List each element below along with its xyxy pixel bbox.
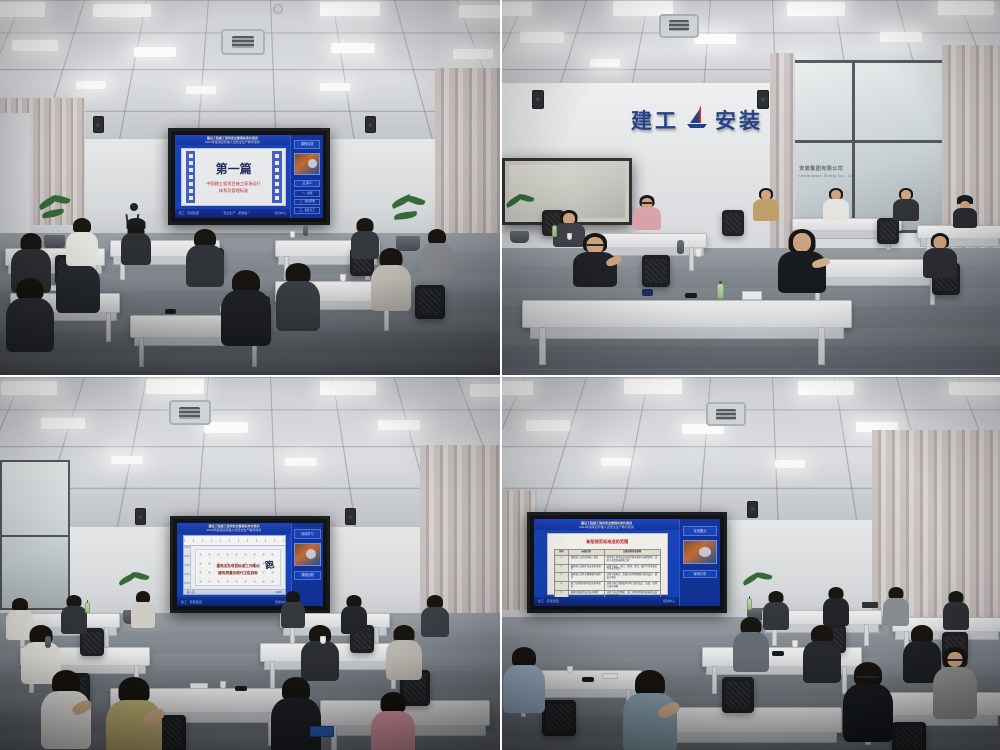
attendee (882, 587, 910, 625)
slide-sidebar: 标准要点 案例分析 (679, 519, 720, 606)
office-chair (542, 700, 576, 736)
window-decal-cn: 安装集团有限公司 (799, 166, 843, 172)
document-heading: 建筑法及项目标准工作推动 建筑质量及现代工程目标 (203, 563, 274, 576)
paper-cup (220, 681, 226, 689)
slide-header-line2: 2024年度项目管理人员安全生产教育培训 (207, 528, 262, 532)
table-cell: 适用于临边、洞口、攀登、悬空、操作平台等高处作业安全防护 (604, 564, 660, 573)
led-panel-light (470, 384, 500, 397)
smartphone (772, 651, 784, 656)
notebook (190, 683, 208, 689)
slide-footer-right: 培训中心 (274, 211, 286, 215)
sidebar-card-top: 标准要点 (683, 526, 717, 536)
table-cell: 适用于施工现场临时用电工程的设计、安装、使用与维护管理 (604, 581, 660, 590)
attendee (942, 591, 970, 629)
attendee (120, 218, 152, 262)
document-page: 建筑法及项目标准工作推动 建筑质量及现代工程目标 跑 (195, 549, 281, 586)
attendee (65, 218, 99, 264)
sidebar-card-bottom: 案例分析 (683, 570, 717, 579)
table-cell: 4 (555, 581, 569, 590)
led-panel-light (331, 43, 375, 53)
office-chair (722, 677, 754, 713)
wall-speaker-icon (93, 116, 104, 133)
training-room-scene: 建设工程施工现场安全管理标准化培训 2024年度项目管理人员安全生产教育培训 (0, 377, 500, 750)
office-chair (892, 722, 926, 750)
attendee (892, 188, 920, 220)
slide-main-area: 建设工程施工现场安全管理标准化培训 2024年度项目管理人员安全生产教育培训 第… (175, 135, 291, 219)
slide-header: 建设工程施工现场安全管理标准化培训 2024年度项目管理人员安全生产教育培训 (175, 135, 291, 146)
led-panel-light (76, 81, 106, 89)
smartphone (235, 686, 247, 691)
sidebar-card-top: 持续学习 (294, 529, 320, 538)
led-panel-light (93, 4, 151, 17)
attendee (420, 229, 454, 275)
led-panel-light (41, 418, 85, 429)
slide-screen: 建设工程施工现场安全管理标准化培训 2024年度项目管理人员安全生产教育培训 新… (534, 519, 720, 606)
slide-chapter-title: 第一篇 (216, 160, 252, 177)
document-page-indicator: 第 1 页 (187, 590, 195, 594)
document-heading-line2: 建筑质量及现代工程目标 (203, 570, 274, 576)
table-cell: 施工现场临时用电安全技术规范 (568, 581, 604, 590)
water-bottle (85, 602, 90, 613)
slide-main-area: 建设工程施工现场安全管理标准化培训 2024年度项目管理人员安全生产教育培训 新… (534, 519, 679, 606)
slide-footer-right: 培训中心 (663, 599, 675, 603)
attendee (220, 270, 272, 344)
attendee (105, 677, 163, 750)
led-panel-light (502, 381, 533, 395)
smartphone (685, 293, 697, 298)
table-cell: 建筑施工扣件式钢管脚手架规范 (568, 573, 604, 582)
slide-header: 建设工程施工现场安全管理标准化培训 2024年度项目管理人员安全生产教育培训 (534, 519, 679, 530)
led-panel-light (624, 379, 682, 394)
notebook (742, 291, 762, 300)
wall-speaker-icon (757, 90, 769, 109)
cassette-air-conditioner (221, 29, 265, 55)
attendee (822, 188, 850, 220)
attendee (922, 233, 958, 277)
slide-footer-left: 建工 · 安装集团 (179, 211, 200, 215)
sail-boat-icon (684, 104, 710, 137)
attendee (502, 647, 546, 711)
window-decal: 安装集团有限公司 Installation Group Co., Ltd. (799, 166, 856, 179)
left-wall (0, 113, 30, 241)
table-cell: 建筑施工高处作业安全技术规范 (568, 564, 604, 573)
smartphone (582, 677, 594, 682)
training-room-scene: 建工 安装 安装 (502, 0, 1000, 375)
sidebar-photo (294, 543, 320, 566)
paper-cup (567, 666, 573, 674)
sidebar-photo (683, 540, 717, 564)
attendee (280, 591, 306, 627)
table-cell: 建筑施工安全技术统一规范 (568, 555, 604, 564)
led-panel-light (111, 456, 143, 464)
led-panel-light (502, 2, 532, 16)
led-panel-light (590, 59, 620, 67)
interior-glass-window: 安装集团有限公司 Installation Group Co., Ltd. (787, 60, 947, 233)
attendee (802, 625, 842, 679)
slide-footer-left: 建工 · 安装集团 (538, 599, 559, 603)
led-panel-light (12, 40, 58, 51)
paper-cup (290, 231, 295, 238)
attendee (932, 647, 978, 715)
led-panel-light (320, 2, 380, 16)
table-cell: 规定施工现场安全技术的基本要求与通用原则，适用于各类房屋建筑工程 (604, 555, 660, 564)
led-panel-light (320, 83, 350, 91)
training-desk (522, 300, 852, 328)
led-panel-light (285, 458, 317, 466)
collage-panel-top-right: 建工 安装 安装 (502, 0, 1000, 375)
potted-plant-icon (505, 195, 535, 243)
slide-header-line2: 2024年度项目管理人员安全生产教育培训 (205, 140, 260, 144)
collage-panel-top-left: 建设工程施工现场安全管理标准化培训 2024年度项目管理人员安全生产教育培训 第… (0, 0, 500, 375)
attendee (822, 587, 850, 625)
attendee (572, 233, 618, 285)
document-window: 建筑法及项目标准工作推动 建筑质量及现代工程目标 跑 第 1 页 100% (183, 535, 287, 595)
slide-main-area: 建设工程施工现场安全管理标准化培训 2024年度项目管理人员安全生产教育培训 (177, 523, 291, 607)
led-panel-light (459, 5, 500, 18)
window-curtain (435, 68, 500, 241)
led-panel-light (601, 458, 631, 466)
wall-speaker-icon (365, 116, 376, 133)
water-bottle (552, 225, 557, 237)
attendee (752, 188, 780, 220)
attendee (300, 625, 340, 679)
slide-footer-mid: 安全生产 · 质量第一 (223, 211, 250, 215)
paper-cup (567, 233, 572, 240)
attendee (350, 218, 380, 258)
attendee (385, 625, 423, 677)
attendee (777, 229, 827, 291)
cassette-air-conditioner (706, 402, 746, 426)
wall-speaker-icon (532, 90, 544, 109)
tripod-camera-icon (130, 203, 138, 211)
cassette-air-conditioner (659, 14, 699, 38)
attendee (420, 595, 450, 635)
collage-panel-bottom-right: 建设工程施工现场安全管理标准化培训 2024年度项目管理人员安全生产教育培训 新… (502, 377, 1000, 750)
slide-header-line2: 2024年度项目管理人员安全生产教育培训 (579, 525, 634, 529)
paper-cup (792, 640, 798, 648)
table-row: 1 建筑施工安全技术统一规范 规定施工现场安全技术的基本要求与通用原则，适用于各… (555, 555, 660, 564)
sidebar-note-3: 三、责任分工 (294, 207, 321, 214)
slide-sidebar: 课程目录 主讲人 一、总则 二、组织机构 三、责任分工 (290, 135, 323, 219)
attendee (842, 662, 894, 738)
led-panel-light (520, 32, 564, 43)
paper-cup (320, 636, 326, 644)
sidebar-card-bottom: 主讲人 (294, 180, 321, 188)
document-ribbon (184, 536, 286, 546)
water-bottle (747, 598, 752, 610)
table-row: 3 建筑施工扣件式钢管脚手架规范 适用于落地式、悬挑式扣件钢管脚手架的设计、搭设… (555, 573, 660, 582)
table-slide: 新版规范标准适用范围 序号 标准名称 主要适用内容说明 (547, 533, 667, 595)
training-room-scene: 建设工程施工现场安全管理标准化培训 2024年度项目管理人员安全生产教育培训 第… (0, 0, 500, 375)
table-cell: 3 (555, 573, 569, 582)
led-panel-light (134, 47, 176, 57)
thermos-flask (303, 225, 308, 236)
led-presentation-wall: 建设工程施工现场安全管理标准化培训 2024年度项目管理人员安全生产教育培训 (170, 516, 330, 614)
led-panel-light (775, 460, 805, 468)
slide-footer: 建工 · 安装集团 培训中心 (534, 597, 679, 607)
document-status-bar: 第 1 页 100% (184, 589, 286, 594)
table-row: 2 建筑施工高处作业安全技术规范 适用于临边、洞口、攀登、悬空、操作平台等高处作… (555, 564, 660, 573)
led-panel-light (880, 32, 922, 42)
sidebar-note-1: 一、总则 (294, 190, 321, 197)
slide-footer: 建工 · 安装集团 安全生产 · 质量第一 培训中心 (175, 209, 291, 218)
led-panel-light (378, 420, 420, 430)
thermos-flask (45, 636, 51, 648)
smoke-detector-icon (273, 4, 283, 14)
document-side-rail (184, 546, 191, 589)
sidebar-photo (294, 153, 321, 175)
laptop (862, 602, 878, 608)
slide-footer-left: 建工 · 安装集团 (181, 600, 202, 604)
attendee (340, 595, 368, 633)
sidebar-card-top: 课程目录 (294, 140, 321, 149)
wall-logo-left-text: 建工 (631, 105, 679, 135)
slide-subtitle-line2: 体系及管理标准 (219, 187, 248, 194)
water-bottle (717, 283, 724, 299)
led-panel-light (798, 381, 854, 395)
exterior-window (0, 460, 70, 610)
eyeglass-case (642, 289, 653, 296)
notebook (602, 673, 618, 679)
attendee (185, 229, 225, 285)
led-panel-light (320, 381, 376, 395)
paper-cup (695, 248, 702, 257)
office-chair (877, 218, 899, 244)
led-panel-light (204, 422, 248, 433)
collage-panel-bottom-left: 建设工程施工现场安全管理标准化培训 2024年度项目管理人员安全生产教育培训 (0, 377, 500, 750)
led-presentation-wall: 建设工程施工现场安全管理标准化培训 2024年度项目管理人员安全生产教育培训 第… (168, 128, 331, 226)
wall-speaker-icon (135, 508, 146, 525)
smartphone (165, 309, 176, 314)
cassette-air-conditioner (169, 400, 211, 425)
attendee (952, 195, 978, 225)
wall-speaker-icon (345, 508, 356, 525)
led-panel-light (186, 86, 216, 94)
slide-header: 建设工程施工现场安全管理标准化培训 2024年度项目管理人员安全生产教育培训 (177, 523, 291, 534)
slide-footer: 建工 · 安装集团 培训中心 (177, 597, 291, 606)
paper-cup (340, 274, 346, 282)
led-panel-light (146, 379, 204, 394)
led-panel-light (694, 34, 736, 44)
wall-logo-right-text: 安装 (715, 105, 763, 135)
slide-body: 第一篇 中国建工程项目施工现场运行 体系及管理标准 (181, 148, 285, 206)
window-curtain (420, 445, 500, 618)
led-panel-light (949, 382, 1000, 395)
wall-speaker-icon (747, 501, 758, 518)
attendee (130, 591, 156, 627)
thermos-flask (677, 240, 684, 254)
table-cell: 适用于落地式、悬挑式扣件钢管脚手架的设计、搭设与验收 (604, 573, 660, 582)
attendee (732, 617, 770, 669)
blue-folder (310, 726, 334, 737)
attendee (370, 692, 416, 750)
table-cell: 1 (555, 555, 569, 564)
office-chair (722, 210, 744, 236)
sidebar-note-2: 二、组织机构 (294, 199, 321, 206)
led-presentation-wall: 建设工程施工现场安全管理标准化培训 2024年度项目管理人员安全生产教育培训 新… (527, 512, 727, 613)
led-panel-light (0, 2, 45, 17)
attendee (40, 670, 92, 746)
led-panel-light (526, 420, 570, 431)
attendee (270, 677, 322, 750)
attendee (622, 670, 678, 750)
photo-collage: 建设工程施工现场安全管理标准化培训 2024年度项目管理人员安全生产教育培训 第… (0, 0, 1000, 750)
attendee (5, 278, 55, 350)
office-chair (415, 285, 445, 319)
office-chair (642, 255, 670, 287)
led-panel-light (1, 381, 57, 395)
table-cell: 2 (555, 564, 569, 573)
led-panel-light (938, 1, 994, 15)
led-panel-light (453, 49, 493, 59)
slide-screen: 建设工程施工现场安全管理标准化培训 2024年度项目管理人员安全生产教育培训 第… (175, 135, 324, 219)
attendee (275, 263, 321, 329)
attendee (632, 195, 662, 229)
training-room-scene: 建设工程施工现场安全管理标准化培训 2024年度项目管理人员安全生产教育培训 新… (502, 377, 1000, 750)
window-decal-en: Installation Group Co., Ltd. (799, 174, 856, 179)
attendee (60, 595, 88, 633)
table-row: 4 施工现场临时用电安全技术规范 适用于施工现场临时用电工程的设计、安装、使用与… (555, 581, 660, 590)
led-panel-light (787, 2, 845, 16)
sidebar-card-bottom: 课程回顾 (294, 571, 320, 579)
table-title: 新版规范标准适用范围 (554, 539, 660, 545)
